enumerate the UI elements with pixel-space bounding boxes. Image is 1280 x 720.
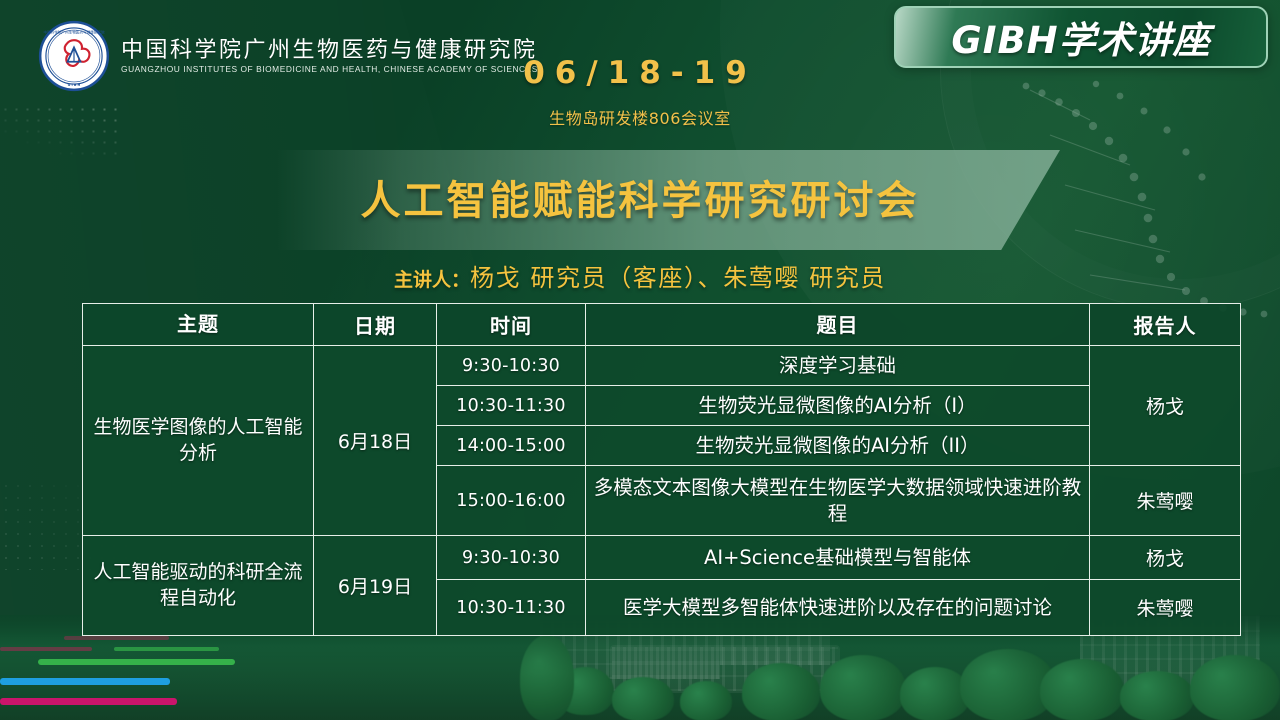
event-title: 人工智能赋能科学研究研讨会 xyxy=(0,168,1280,226)
cell-time: 9:30-10:30 xyxy=(437,536,586,580)
cell-date: 6月19日 xyxy=(314,536,437,636)
column-header-speaker: 报告人 xyxy=(1090,304,1241,346)
cell-time: 14:00-15:00 xyxy=(437,426,586,466)
column-header-topic: 主题 xyxy=(83,304,314,346)
speakers-names: 杨戈 研究员（客座）、朱莺嘤 研究员 xyxy=(470,264,886,292)
cell-title: 医学大模型多智能体快速进阶以及存在的问题讨论 xyxy=(586,580,1090,636)
cell-speaker: 朱莺嘤 xyxy=(1090,580,1241,636)
cell-time: 15:00-16:00 xyxy=(437,466,586,536)
cell-title: 生物荧光显微图像的AI分析（I） xyxy=(586,386,1090,426)
cell-title: 多模态文本图像大模型在生物医学大数据领域快速进阶教程 xyxy=(586,466,1090,536)
cell-topic: 生物医学图像的人工智能分析 xyxy=(83,346,314,536)
cell-date: 6月18日 xyxy=(314,346,437,536)
table-row: 生物医学图像的人工智能分析 6月18日 9:30-10:30 深度学习基础 杨戈 xyxy=(83,346,1241,386)
cell-title: 生物荧光显微图像的AI分析（II） xyxy=(586,426,1090,466)
schedule-table: 主题 日期 时间 题目 报告人 生物医学图像的人工智能分析 6月18日 9:30… xyxy=(82,303,1241,636)
cell-time: 10:30-11:30 xyxy=(437,386,586,426)
event-venue: 生物岛研发楼806会议室 xyxy=(0,105,1280,129)
speakers-line: 主讲人：杨戈 研究员（客座）、朱莺嘤 研究员 xyxy=(0,258,1280,293)
table-header-row: 主题 日期 时间 题目 报告人 xyxy=(83,304,1241,346)
cell-topic: 人工智能驱动的科研全流程自动化 xyxy=(83,536,314,636)
column-header-date: 日期 xyxy=(314,304,437,346)
cell-time: 9:30-10:30 xyxy=(437,346,586,386)
table-row: 人工智能驱动的科研全流程自动化 6月19日 9:30-10:30 AI+Scie… xyxy=(83,536,1241,580)
cell-time: 10:30-11:30 xyxy=(437,580,586,636)
speakers-label: 主讲人： xyxy=(394,269,470,291)
cell-speaker: 朱莺嘤 xyxy=(1090,466,1241,536)
cell-title: AI+Science基础模型与智能体 xyxy=(586,536,1090,580)
cell-speaker: 杨戈 xyxy=(1090,346,1241,466)
cell-speaker: 杨戈 xyxy=(1090,536,1241,580)
column-header-time: 时间 xyxy=(437,304,586,346)
event-date-range: 06/18-19 xyxy=(0,55,1280,91)
cell-title: 深度学习基础 xyxy=(586,346,1090,386)
column-header-title: 题目 xyxy=(586,304,1090,346)
svg-text:中国科学院广州生物医药与健康研究院: 中国科学院广州生物医药与健康研究院 xyxy=(43,30,104,35)
poster-canvas: 中国科学院广州生物医药与健康研究院 G I B H 中国科学院广州生物医药与健康… xyxy=(0,0,1280,720)
